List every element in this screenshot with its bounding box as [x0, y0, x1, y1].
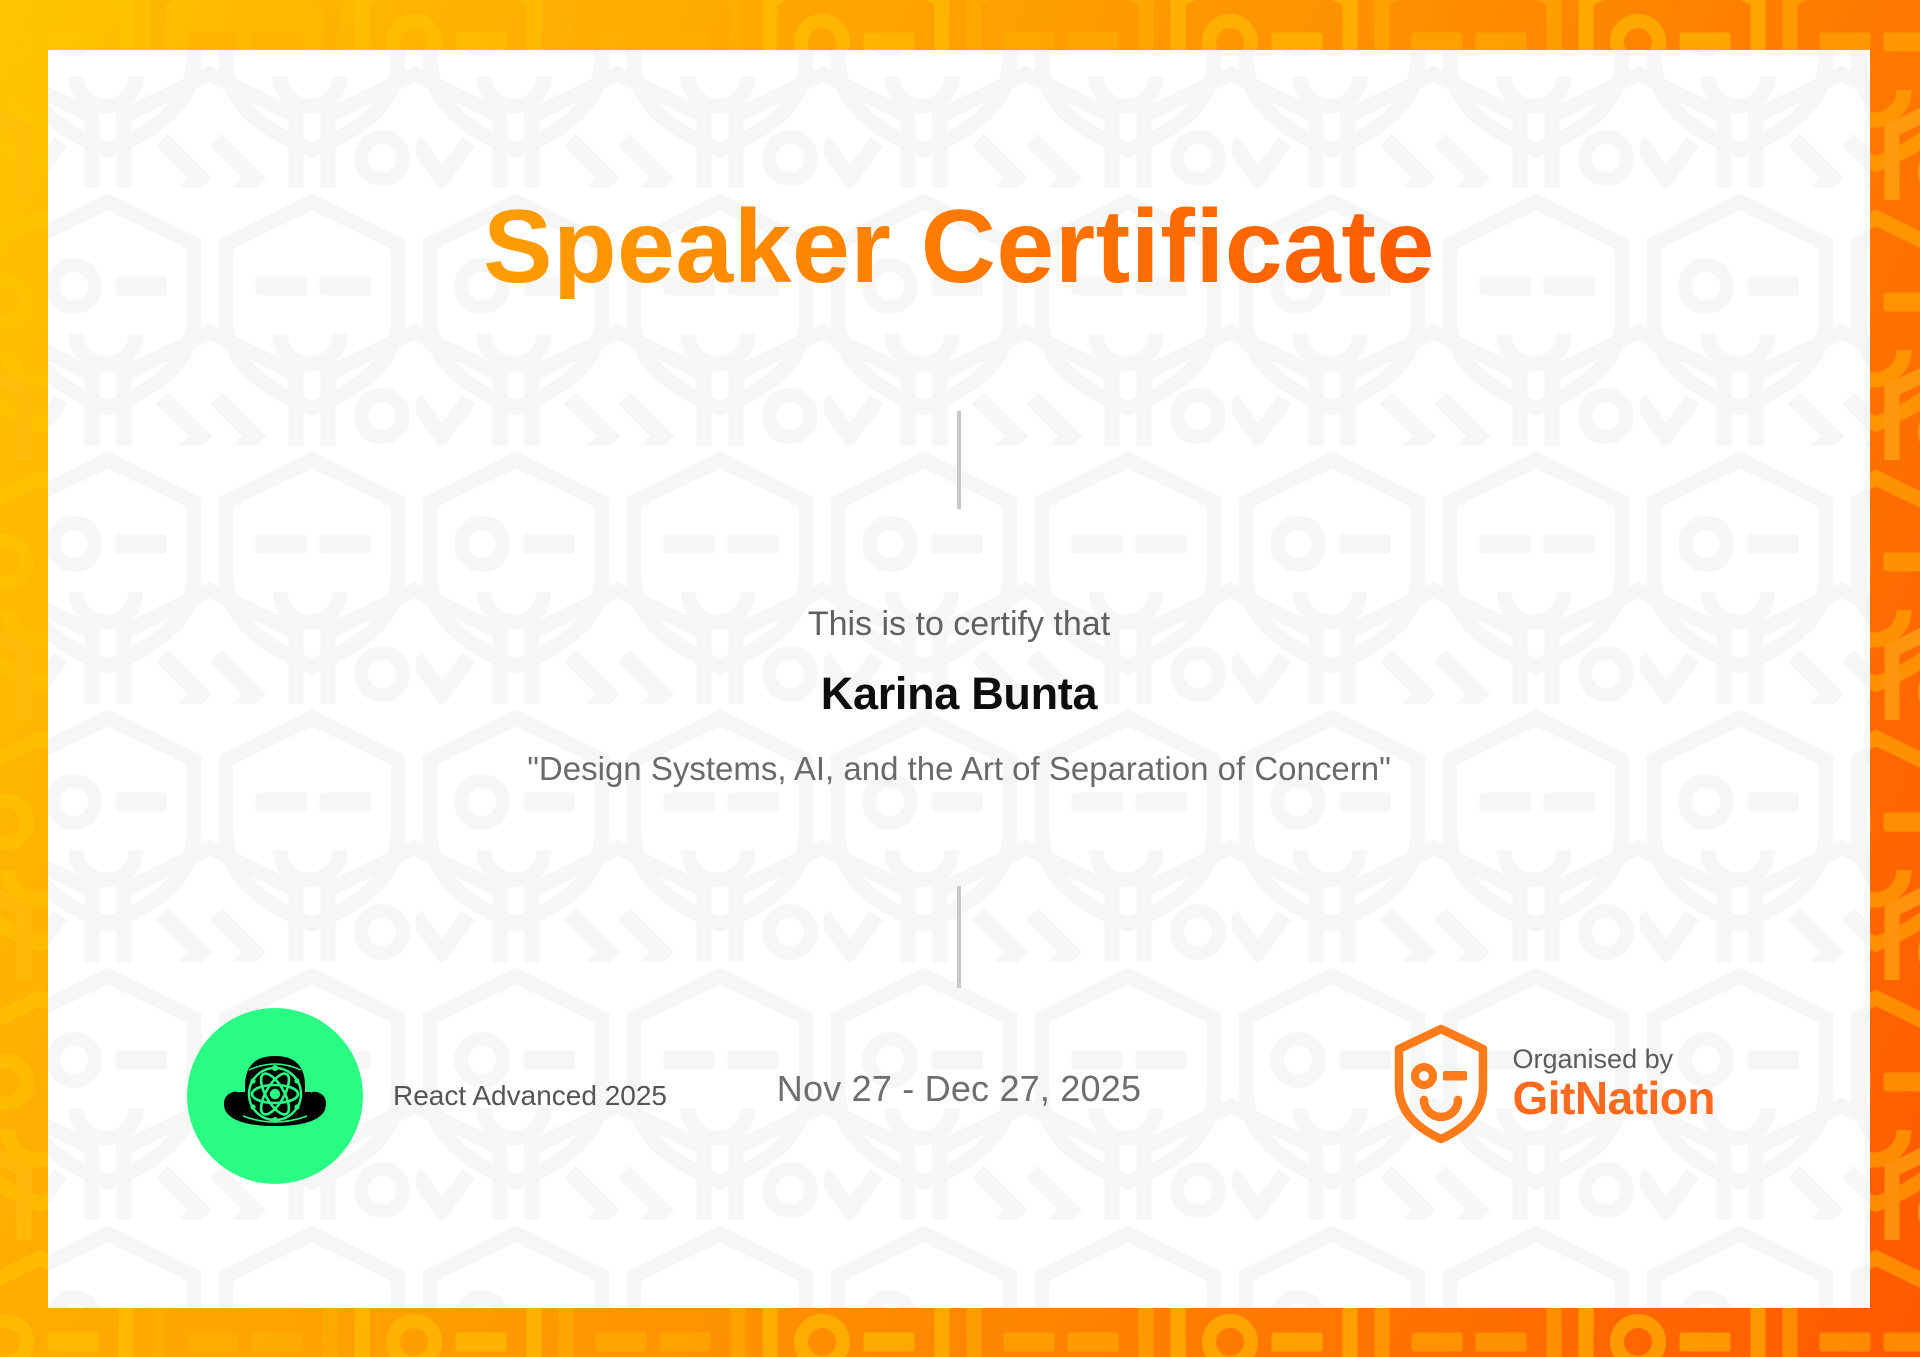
certificate-card: Speaker Certificate This is to certify t… — [48, 50, 1870, 1308]
organiser-block: Organised by GitNation — [1391, 1022, 1715, 1146]
talk-title: "Design Systems, AI, and the Art of Sepa… — [527, 750, 1391, 788]
page-title: Speaker Certificate — [483, 195, 1435, 299]
organiser-name: GitNation — [1513, 1074, 1715, 1124]
organiser-text: Organised by GitNation — [1513, 1045, 1715, 1124]
recipient-name: Karina Bunta — [821, 668, 1097, 720]
organiser-label: Organised by — [1513, 1045, 1715, 1074]
certify-line: This is to certify that — [808, 605, 1110, 644]
speaker-certificate: Speaker Certificate This is to certify t… — [0, 0, 1920, 1357]
certificate-footer: React Advanced 2025 Nov 27 - Dec 27, 202… — [48, 1008, 1870, 1308]
divider-top — [957, 411, 961, 509]
gitnation-shield-face-icon — [1391, 1022, 1491, 1146]
date-range: Nov 27 - Dec 27, 2025 — [777, 1068, 1141, 1109]
divider-bottom — [957, 886, 961, 988]
